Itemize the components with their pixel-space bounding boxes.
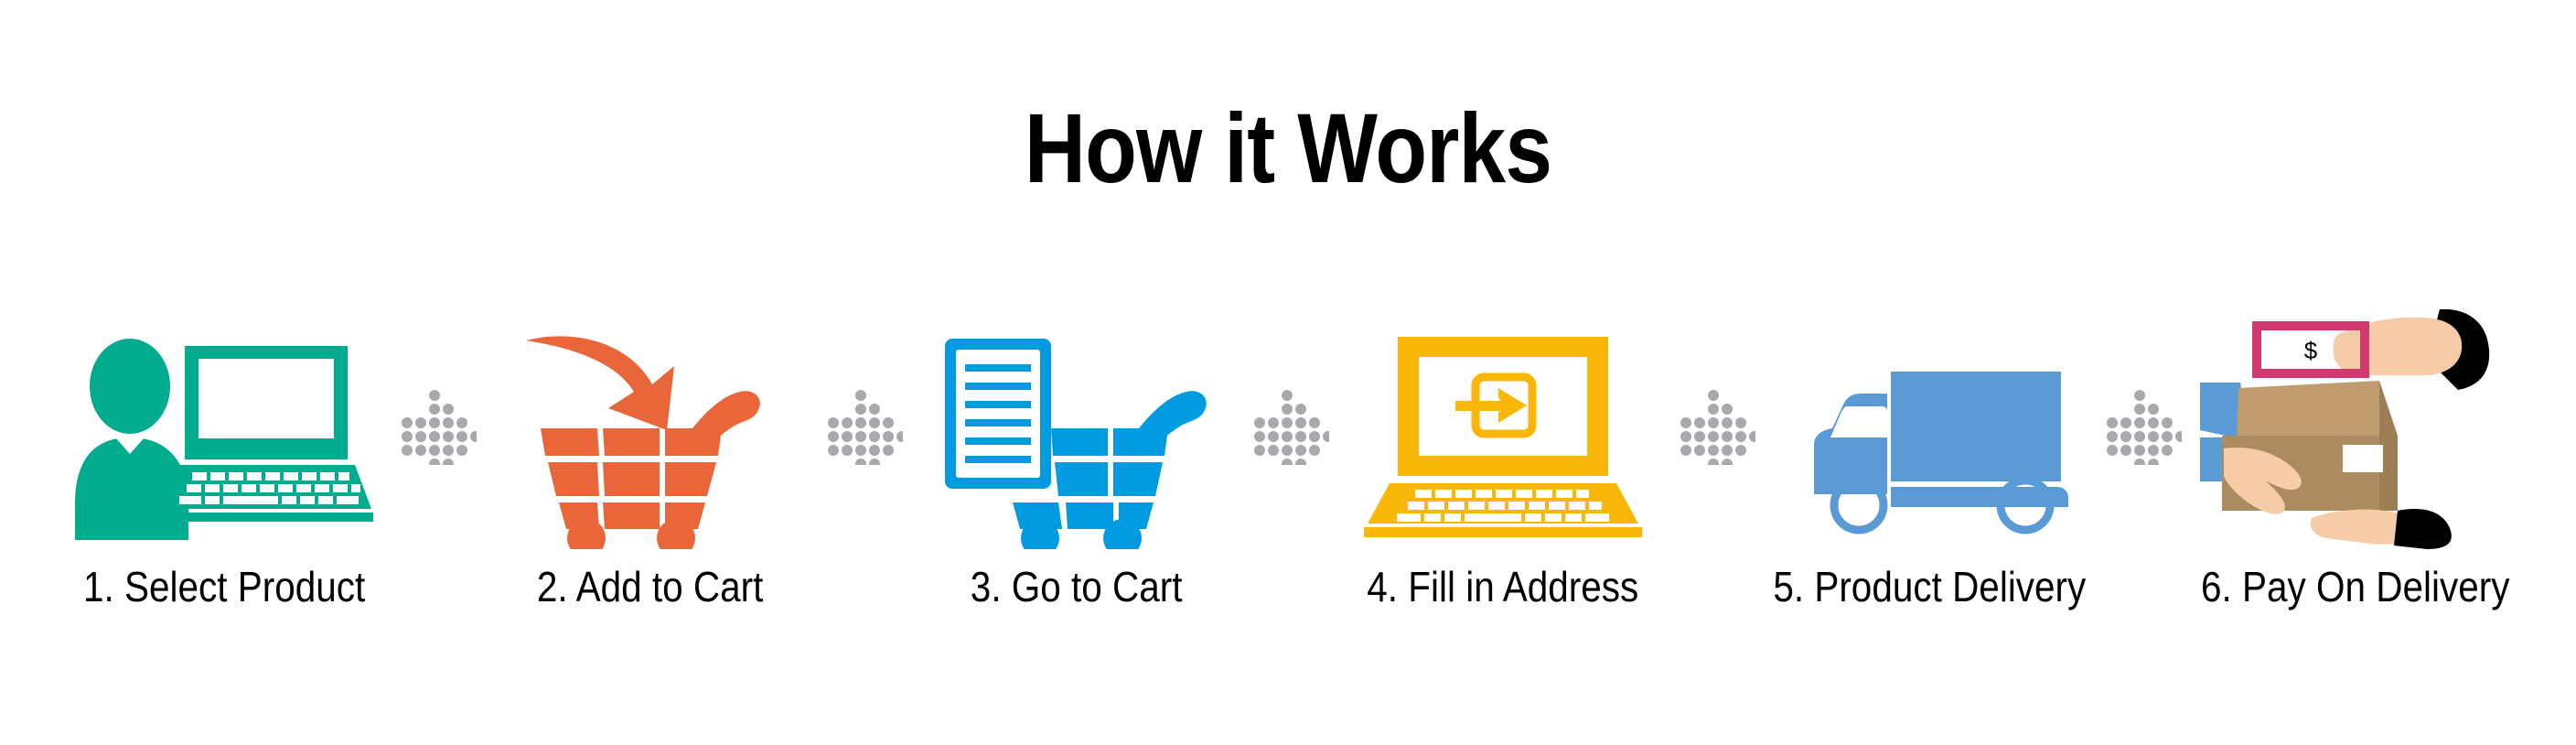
step-3-label: 3. Go to Cart (971, 562, 1183, 611)
delivery-truck-icon (1760, 302, 2098, 549)
page-title: How it Works (180, 93, 2396, 203)
step-5-product-delivery: 5. Product Delivery (1760, 302, 2098, 611)
cart-with-arrow-icon (481, 302, 820, 549)
dotted-arrow-right-icon-3 (1246, 302, 1334, 549)
step-2-label: 2. Add to Cart (537, 562, 764, 611)
cart-with-document-icon (907, 302, 1246, 549)
step-1-select-product: 1. Select Product (55, 302, 393, 611)
hands-exchange-box-and-money-icon: $ (2186, 302, 2525, 549)
dotted-arrow-right-icon-4 (1672, 302, 1760, 549)
step-2-add-to-cart: 2. Add to Cart (481, 302, 820, 611)
step-4-fill-in-address: 4. Fill in Address (1334, 302, 1672, 611)
step-1-label: 1. Select Product (83, 562, 365, 611)
steps-flow: 1. Select Product (37, 302, 2543, 668)
step-6-label: 6. Pay On Delivery (2201, 562, 2509, 611)
person-with-laptop-icon (55, 302, 393, 549)
step-3-go-to-cart: 3. Go to Cart (907, 302, 1246, 611)
laptop-with-login-icon (1334, 302, 1672, 549)
dotted-arrow-right-icon-2 (820, 302, 907, 549)
dotted-arrow-right-icon-5 (2098, 302, 2186, 549)
how-it-works-infographic: How it Works (0, 0, 2576, 745)
dotted-arrow-right-icon-1 (393, 302, 481, 549)
step-4-label: 4. Fill in Address (1367, 562, 1638, 611)
svg-text:$: $ (2304, 337, 2318, 364)
step-5-label: 5. Product Delivery (1773, 562, 2086, 611)
step-6-pay-on-delivery: $ (2186, 302, 2525, 611)
